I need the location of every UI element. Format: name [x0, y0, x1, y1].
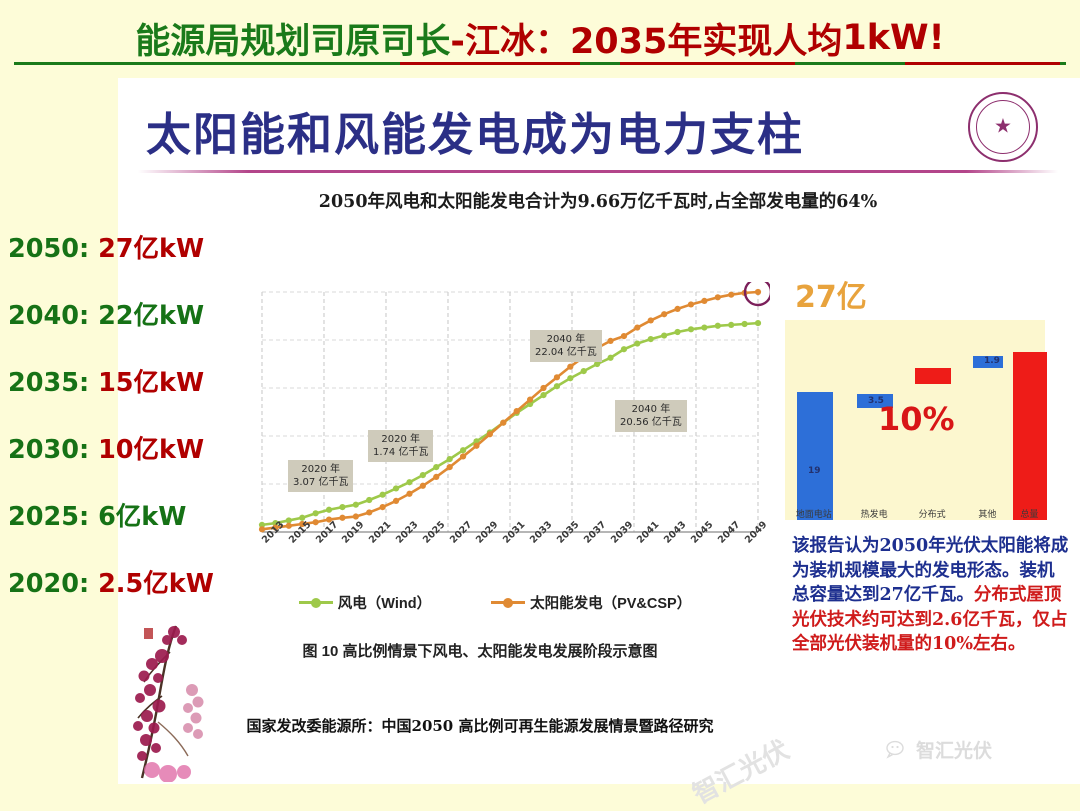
list-item: 2030: 10亿kW [8, 429, 234, 496]
slide-subtitle: 2050年风电和太阳能发电合计为9.66万亿千瓦时,占全部发电量的64% [158, 188, 1038, 213]
brand-watermark-label: 智汇光伏 [916, 736, 992, 763]
plum-blossom-painting-icon [118, 622, 230, 782]
bar-chart-title: 27亿 [795, 272, 867, 316]
year-label: 2030: [8, 435, 89, 465]
bar-chart-center-label: 10% [878, 400, 955, 438]
year-label: 2025: [8, 502, 89, 532]
year-value: 2.5亿kW [98, 569, 214, 599]
year-value: 27亿kW [98, 234, 204, 264]
year-label: 2020: [8, 569, 89, 599]
bar-value-label: 1.9 [984, 356, 1000, 366]
bar-category-label: 热发电 [861, 507, 888, 520]
bar-3 [915, 368, 951, 384]
bar-category-label: 其他 [978, 507, 996, 520]
year-label: 2035: [8, 368, 89, 398]
bar-category-label: 分布式 [919, 507, 946, 520]
headline-banner: 能源局规划司原司长-江冰：2035年实现人均1kW! [0, 8, 1080, 68]
bar-5 [1013, 352, 1047, 520]
year-value: 6亿kW [98, 502, 186, 532]
callout-solar-2040: 2040 年22.04 亿千瓦 [530, 330, 602, 362]
bar-category-label: 总量 [1020, 507, 1038, 520]
year-label: 2040: [8, 301, 89, 331]
wechat-icon [886, 740, 910, 760]
legend-item-solar: 太阳能发电（PV&CSP） [491, 592, 691, 613]
right-note: 该报告认为2050年光伏太阳能将成为装机规模最大的发电形态。装机总容量达到27亿… [792, 534, 1070, 657]
headline-part-2: -江冰： [450, 13, 570, 64]
year-value: 22亿kW [98, 301, 204, 331]
callout-wind-2040: 2040 年20.56 亿千瓦 [615, 400, 687, 432]
headline-underline-red-3 [905, 62, 1060, 65]
title-divider [138, 170, 1058, 173]
legend-label-solar: 太阳能发电（PV&CSP） [530, 592, 691, 613]
line-chart: 智汇光伏 2020 年3.07 亿千瓦 2020 年1.74 亿千瓦 2040 … [250, 282, 770, 582]
headline-part-1: 能源局规划司原司长 [135, 13, 450, 64]
year-target-list: 2050: 27亿kW 2040: 22亿kW 2035: 15亿kW 2030… [8, 228, 234, 630]
list-item: 2040: 22亿kW [8, 295, 234, 362]
list-item: 2025: 6亿kW [8, 496, 234, 563]
callout-solar-2020: 2020 年1.74 亿千瓦 [368, 430, 433, 462]
bar-value-label: 19 [808, 466, 821, 476]
list-item: 2035: 15亿kW [8, 362, 234, 429]
brand-watermark: 智汇光伏 [886, 736, 992, 763]
year-value: 15亿kW [98, 368, 204, 398]
year-value: 10亿kW [98, 435, 204, 465]
headline-underline-red-2 [620, 62, 795, 65]
list-item: 2020: 2.5亿kW [8, 563, 234, 630]
legend-item-wind: 风电（Wind） [299, 592, 431, 613]
bar-category-label: 地面电站 [796, 507, 832, 520]
figure-source: 国家发改委能源所：中国2050 高比例可再生能源发展情景暨路径研究 [180, 715, 780, 736]
legend-label-wind: 风电（Wind） [338, 592, 431, 613]
chart-legend: 风电（Wind） 太阳能发电（PV&CSP） [280, 592, 710, 613]
headline-part-4: 1kW! [842, 18, 944, 58]
headline-underline-red-1 [400, 62, 580, 65]
slide-title: 太阳能和风能发电成为电力支柱 [146, 98, 804, 163]
figure-caption: 图 10 高比例情景下风电、太阳能发电发展阶段示意图 [180, 640, 780, 661]
slide-root: 能源局规划司原司长-江冰：2035年实现人均1kW! 太阳能和风能发电成为电力支… [0, 0, 1080, 784]
university-seal-icon: ★ [968, 92, 1038, 162]
bar-1 [797, 392, 833, 520]
legend-swatch-wind [299, 601, 333, 604]
year-label: 2050: [8, 234, 89, 264]
line-chart-canvas [250, 282, 770, 552]
legend-swatch-solar [491, 601, 525, 604]
headline-part-3: 2035年实现人均 [570, 13, 842, 64]
list-item: 2050: 27亿kW [8, 228, 234, 295]
callout-wind-2020: 2020 年3.07 亿千瓦 [288, 460, 353, 492]
